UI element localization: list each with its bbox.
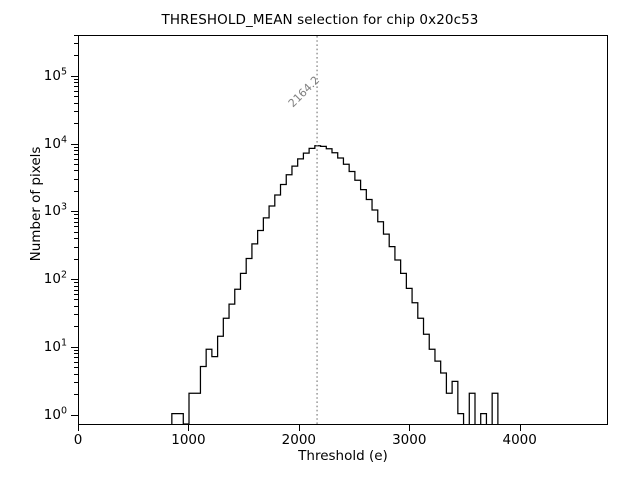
y-tick-minor	[74, 214, 78, 215]
y-tick-minor	[74, 103, 78, 104]
y-tick-minor	[74, 394, 78, 395]
histogram-step-curve	[172, 146, 498, 424]
y-tick-minor	[74, 164, 78, 165]
y-tick-minor	[74, 179, 78, 180]
y-tick-minor	[74, 353, 78, 354]
y-tick-major	[71, 211, 78, 212]
y-tick-minor	[74, 159, 78, 160]
y-axis-label: Number of pixels	[28, 74, 44, 334]
y-tick-minor	[74, 96, 78, 97]
y-tick-minor	[74, 170, 78, 171]
y-tick-major	[71, 279, 78, 280]
y-tick-minor	[74, 111, 78, 112]
x-tick-label: 0	[74, 432, 83, 448]
y-tick-label: 101	[44, 339, 67, 355]
y-tick-minor	[74, 367, 78, 368]
y-tick-label: 102	[44, 271, 67, 287]
y-tick-minor	[74, 218, 78, 219]
chart-title: THRESHOLD_MEAN selection for chip 0x20c5…	[0, 12, 640, 28]
x-tick-major	[188, 425, 189, 431]
y-tick-major	[71, 347, 78, 348]
y-tick-minor	[74, 191, 78, 192]
y-tick-minor	[74, 43, 78, 44]
y-tick-label: 105	[44, 68, 67, 84]
y-tick-minor	[74, 82, 78, 83]
y-tick-major	[71, 76, 78, 77]
x-tick-label: 3000	[392, 432, 426, 448]
x-tick-major	[520, 425, 521, 431]
y-tick-minor	[74, 326, 78, 327]
x-axis-label: Threshold (e)	[78, 448, 608, 464]
y-tick-minor	[74, 286, 78, 287]
y-tick-minor	[74, 226, 78, 227]
y-tick-minor	[74, 259, 78, 260]
y-tick-minor	[74, 314, 78, 315]
y-tick-major	[71, 144, 78, 145]
x-tick-label: 1000	[171, 432, 205, 448]
x-tick-major	[299, 425, 300, 431]
x-tick-label: 4000	[502, 432, 536, 448]
plot-area	[78, 35, 608, 425]
y-tick-minor	[74, 382, 78, 383]
y-tick-minor	[74, 91, 78, 92]
y-tick-minor	[74, 362, 78, 363]
y-tick-label: 104	[44, 136, 67, 152]
y-tick-minor	[74, 374, 78, 375]
y-tick-minor	[74, 247, 78, 248]
y-tick-minor	[74, 55, 78, 56]
y-tick-minor	[74, 222, 78, 223]
x-tick-major	[78, 425, 79, 431]
y-tick-minor	[74, 306, 78, 307]
y-tick-minor	[74, 282, 78, 283]
y-tick-minor	[74, 299, 78, 300]
y-tick-minor	[74, 290, 78, 291]
y-tick-minor	[74, 147, 78, 148]
y-tick-minor	[74, 150, 78, 151]
y-tick-minor	[74, 238, 78, 239]
y-tick-minor	[74, 86, 78, 87]
histogram-plot	[79, 36, 607, 424]
y-tick-minor	[74, 154, 78, 155]
y-tick-minor	[74, 232, 78, 233]
y-tick-minor	[74, 123, 78, 124]
y-tick-label: 103	[44, 203, 67, 219]
y-tick-minor	[74, 35, 78, 36]
y-tick-minor	[74, 357, 78, 358]
y-tick-minor	[74, 79, 78, 80]
y-tick-major	[71, 415, 78, 416]
x-tick-label: 2000	[282, 432, 316, 448]
y-tick-minor	[74, 350, 78, 351]
y-tick-label: 100	[44, 407, 67, 423]
x-tick-major	[409, 425, 410, 431]
y-tick-minor	[74, 294, 78, 295]
histogram-figure: THRESHOLD_MEAN selection for chip 0x20c5…	[0, 0, 640, 480]
